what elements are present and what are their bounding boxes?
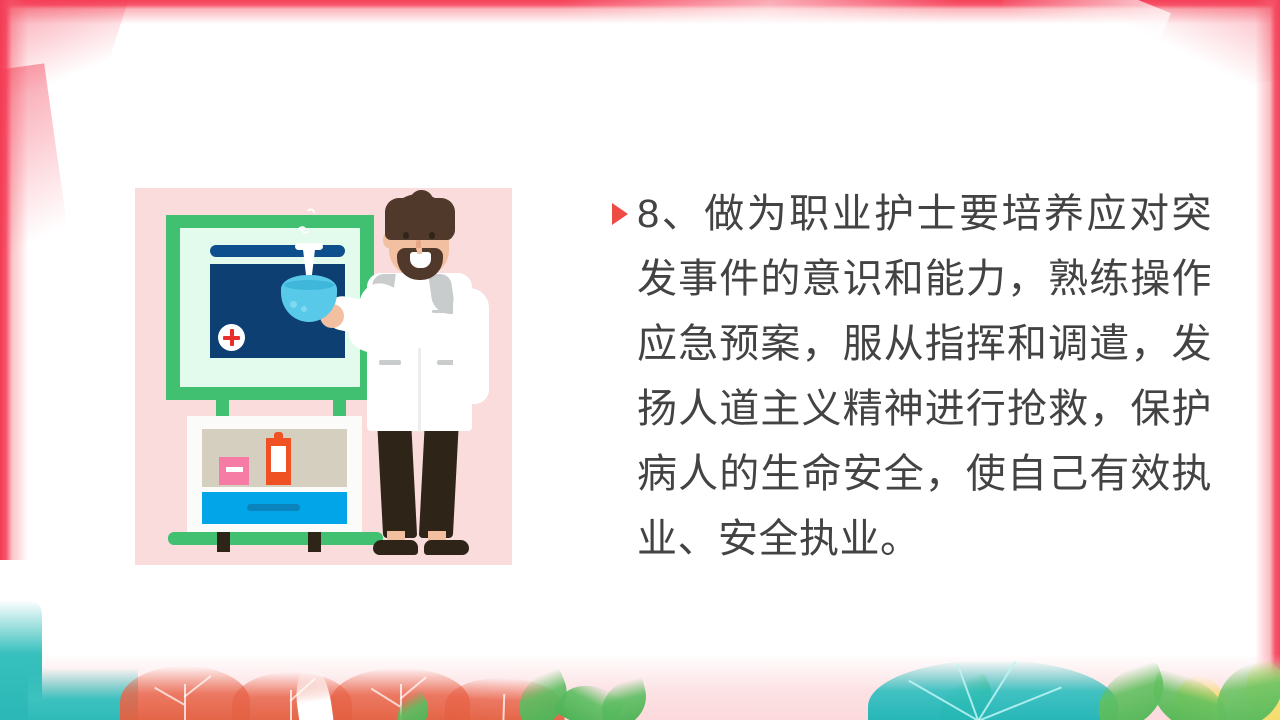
- medicine-bottle-label: [271, 446, 286, 472]
- doctor-shoe-left: [373, 540, 418, 555]
- medical-cart-base-rail: [168, 532, 383, 545]
- flask-bubble: [301, 306, 307, 312]
- pink-supply-box-label: [226, 467, 243, 472]
- doctor-hair-side-right: [433, 198, 455, 240]
- doctor-pocket-left: [379, 360, 401, 365]
- doctor-arm-left: [453, 288, 489, 404]
- coral-leaf-decoration: [232, 672, 352, 720]
- coral-leaf-decoration: [330, 668, 470, 720]
- paragraph-text: 8、做为职业护士要培养应对突发事件的意识和能力，熟练操作应急预案，服从指挥和调遣…: [637, 182, 1212, 572]
- top-right-corner-highlight-decoration: [989, 0, 1171, 97]
- green-leaf-decoration: [595, 677, 652, 720]
- right-red-edge-decoration: [1254, 0, 1280, 720]
- green-leaf-decoration: [389, 689, 437, 720]
- yellow-leaf-decoration: [1169, 673, 1229, 720]
- doctor-leg-left: [377, 416, 417, 538]
- yellow-leaf-decoration: [1240, 656, 1280, 720]
- green-leaf-decoration: [509, 668, 577, 720]
- bullet-paragraph: 8、做为职业护士要培养应对突发事件的意识和能力，熟练操作应急预案，服从指挥和调遣…: [612, 182, 1212, 572]
- doctor-hair-side-left: [385, 198, 405, 234]
- medical-cart-wheel-right: [308, 532, 321, 552]
- white-sprout-decoration: [292, 664, 334, 720]
- medical-cart-wheel-left: [217, 532, 230, 552]
- green-leaf-decoration: [1144, 668, 1235, 720]
- bottom-left-teal-block-decoration: [0, 600, 42, 720]
- doctor-with-flask-illustration: [135, 188, 512, 565]
- slide-canvas: 8、做为职业护士要培养应对突发事件的意识和能力，熟练操作应急预案，服从指挥和调遣…: [0, 0, 1280, 720]
- doctor-lab-coat-seam: [418, 348, 421, 432]
- doctor-mouth: [410, 252, 431, 268]
- bottom-left-teal-block-secondary-decoration: [28, 668, 138, 720]
- top-red-edge-decoration: [0, 0, 1280, 26]
- triangle-right-bullet-icon: [612, 203, 628, 225]
- top-left-corner-shape-secondary-decoration: [0, 63, 75, 296]
- green-leaf-decoration: [929, 671, 1003, 720]
- teal-wide-leaf-decoration: [868, 660, 1118, 720]
- left-red-edge-decoration: [0, 0, 30, 560]
- doctor-chest-pocket: [432, 310, 452, 313]
- doctor-leg-right: [419, 416, 459, 538]
- doctor-eye-left: [403, 232, 409, 239]
- doctor-shoe-right: [424, 540, 469, 555]
- bottom-pink-band-decoration: [0, 654, 1280, 720]
- flask-bubble: [290, 301, 297, 308]
- top-right-corner-shape-decoration: [1095, 0, 1280, 116]
- medical-cart-drawer-handle: [247, 504, 300, 511]
- slide-body-text-block: 8、做为职业护士要培养应对突发事件的意识和能力，熟练操作应急预案，服从指挥和调遣…: [612, 182, 1212, 572]
- green-leaf-decoration: [1088, 660, 1174, 720]
- coral-leaf-decoration: [444, 676, 566, 720]
- green-leaf-decoration: [1210, 658, 1280, 720]
- top-left-corner-shape-decoration: [0, 0, 130, 140]
- green-leaf-decoration: [553, 672, 627, 720]
- flask-liquid-surface: [284, 280, 334, 290]
- medical-cross-icon: [218, 324, 245, 351]
- top-edge-sheen-decoration: [560, 0, 1080, 22]
- doctor-eye-right: [429, 232, 435, 239]
- coral-leaf-decoration: [120, 666, 250, 720]
- display-board-title-bar: [210, 245, 345, 257]
- doctor-moustache-gap: [417, 248, 422, 254]
